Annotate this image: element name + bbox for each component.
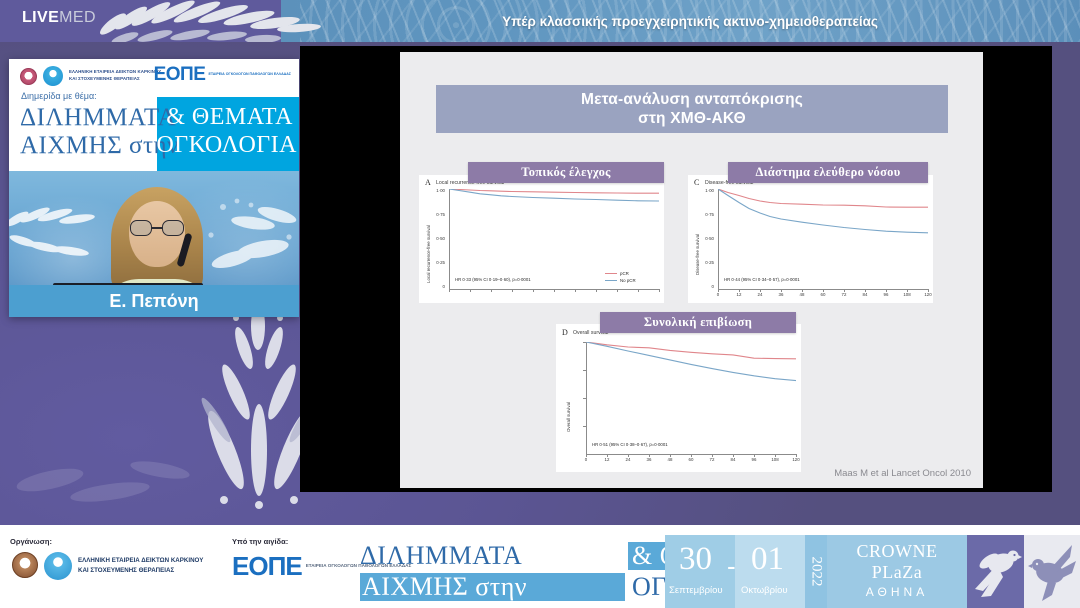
x-tick-mark-a-5 (554, 289, 555, 292)
seal-icon (20, 68, 37, 85)
organiser-name-line-2: ΚΑΙ ΣΤΟΧΕΥΜΕΝΗΣ ΘΕΡΑΠΕΙΑΣ (78, 567, 174, 574)
x-tick-d-7: 84 (727, 457, 739, 462)
app-root: LIVEMED Υπέρ κλασσικής προεγχειρητικής α… (0, 0, 1080, 608)
y-tick-a-2: 0·50 (431, 236, 445, 241)
poster-title-left-2: ΑΙΧΜΗΣ στην (20, 133, 179, 158)
chart-panel-overall-survival: D Overall survival Overall survival HR 0… (556, 324, 801, 472)
x-tick-mark-a-8 (617, 289, 618, 292)
logo-live-text: LIVE (22, 9, 59, 26)
logo-med-text: MED (59, 9, 96, 26)
poster-logos: ΕΛΛΗΝΙΚΗ ΕΤΑΙΡΕΙΑ ΔΕΙΚΤΩΝ ΚΑΡΚΙΝΟΥ ΚΑΙ Σ… (20, 66, 161, 86)
section-label-disease-free: Διάστημα ελεύθερο νόσου (728, 162, 928, 183)
km-curves-d (586, 342, 796, 454)
x-tick-d-2: 24 (622, 457, 634, 462)
eyeglasses-icon (130, 220, 184, 236)
poster-subtitle: Διημερίδα με θέμα: (21, 91, 97, 101)
date-separator: - (727, 551, 736, 582)
eope-wordmark: ΕΟΠΕ (154, 65, 206, 84)
venue-line-3: ΑΘΗΝΑ (827, 585, 967, 599)
panel-letter-a: A (425, 178, 431, 187)
footer-venue: CROWNE PLaZa ΑΘΗΝΑ (827, 535, 967, 608)
slide-citation: Maas M et al Lancet Oncol 2010 (834, 468, 971, 479)
chart-panel-disease-free: C Disease-free survival Disease-free sur… (688, 175, 933, 303)
slide-content: Μετα-ανάλυση ανταπόκρισης στη ΧΜΘ-ΑΚΘ A … (400, 52, 983, 488)
venue-line-1: CROWNE (827, 541, 967, 562)
auspices-label: Υπό την αιγίδα: (232, 537, 288, 546)
date-start-day: 30 (679, 543, 712, 576)
section-label-overall-survival: Συνολική επιβίωση (600, 312, 796, 333)
x-tick-c-2: 24 (754, 292, 766, 297)
x-tick-mark-a-7 (596, 289, 597, 292)
legend-a: pCR No pCR (605, 271, 636, 285)
bird-icon-light (969, 541, 1022, 603)
date-end-month: Οκτωβρίου (741, 585, 788, 596)
speaker-video-panel[interactable]: ΕΛΛΗΝΙΚΗ ΕΤΑΙΡΕΙΑ ΔΕΙΚΤΩΝ ΚΑΡΚΙΝΟΥ ΚΑΙ Σ… (9, 59, 299, 317)
x-tick-d-3: 36 (643, 457, 655, 462)
section-label-local-control: Τοπικός έλεγχος (468, 162, 664, 183)
panel-letter-c: C (694, 178, 699, 187)
x-tick-mark-a-9 (638, 289, 639, 292)
poster-title-right-2: ΟΓΚΟΛΟΓΙΑ (156, 133, 297, 157)
poster-society-text: ΕΛΛΗΝΙΚΗ ΕΤΑΙΡΕΙΑ ΔΕΙΚΤΩΝ ΚΑΡΚΙΝΟΥ ΚΑΙ Σ… (69, 69, 161, 82)
x-tick-d-0: 0 (580, 457, 592, 462)
session-title: Υπέρ κλασσικής προεγχειρητικής ακτινο-χη… (300, 0, 1080, 42)
footer-year-text: 2022 (808, 545, 825, 599)
x-tick-c-1: 12 (733, 292, 745, 297)
y-tick-a-3: 0·25 (431, 260, 445, 265)
x-tick-d-8: 96 (748, 457, 760, 462)
date-start-month: Σεπτεμβρίου (669, 585, 723, 596)
x-tick-d-4: 48 (664, 457, 676, 462)
footer-banner: Οργάνωση: ΕΛΛΗΝΙΚΗ ΕΤΑΙΡΕΙΑ ΔΕΙΚΤΩΝ ΚΑΡΚ… (0, 525, 1080, 608)
organiser-label: Οργάνωση: (10, 537, 52, 546)
poster-title-left-1: ΔΙΛΗΜΜΑΤΑ (20, 105, 176, 130)
y-tick-c-2: 0·50 (700, 236, 714, 241)
footer-eope-wordmark: ΕΟΠΕ (232, 553, 302, 579)
footer-year: 2022 (805, 535, 827, 608)
bird-icon-dark (1026, 539, 1078, 605)
poster-title-right-1: & ΘΕΜΑΤΑ (166, 105, 293, 129)
hr-annotation-d: HR 0·51 (95% CI 0·38–0·67), p=0·0001 (592, 442, 668, 447)
legend-swatch-nopcr (605, 280, 617, 281)
x-tick-mark-a-1 (470, 289, 471, 292)
slide-title-line-1: Μετα-ανάλυση ανταπόκρισης (581, 90, 803, 109)
x-tick-c-4: 48 (796, 292, 808, 297)
organiser-globe-icon (44, 552, 72, 580)
panel-letter-d: D (562, 328, 568, 337)
y-axis-label-a: Local recurrence-free survival (426, 225, 431, 283)
y-tick-c-1: 0·75 (700, 212, 714, 217)
speaker-name-bar: Ε. Πεπόνη (9, 285, 299, 317)
globe-icon (43, 66, 63, 86)
y-tick-a-1: 0·75 (431, 212, 445, 217)
x-tick-d-5: 60 (685, 457, 697, 462)
slide-canvas[interactable]: Μετα-ανάλυση ανταπόκρισης στη ΧΜΘ-ΑΚΘ A … (400, 52, 983, 488)
organiser-name-line-1: ΕΛΛΗΝΙΚΗ ΕΤΑΙΡΕΙΑ ΔΕΙΚΤΩΝ ΚΑΡΚΙΝΟΥ (78, 557, 203, 564)
livemed-logo: LIVEMED (22, 9, 96, 27)
x-tick-d-1: 12 (601, 457, 613, 462)
organiser-name: ΕΛΛΗΝΙΚΗ ΕΤΑΙΡΕΙΑ ΔΕΙΚΤΩΝ ΚΑΡΚΙΝΟΥ ΚΑΙ Σ… (78, 556, 203, 575)
footer-bird-panel-left (967, 535, 1024, 608)
x-tick-mark-a-6 (575, 289, 576, 292)
footer-bird-panel-right (1024, 535, 1080, 608)
y-tick-a-0: 1·00 (431, 188, 445, 193)
conference-poster: ΕΛΛΗΝΙΚΗ ΕΤΑΙΡΕΙΑ ΔΕΙΚΤΩΝ ΚΑΡΚΙΝΟΥ ΚΑΙ Σ… (9, 59, 299, 171)
x-tick-d-6: 72 (706, 457, 718, 462)
x-tick-mark-a-10 (659, 289, 660, 292)
legend-label-pcr: pCR (620, 271, 629, 276)
x-tick-c-7: 84 (859, 292, 871, 297)
x-tick-c-10: 120 (922, 292, 933, 297)
organiser-seal-icon (12, 552, 38, 578)
footer-wordmark-line-1: ΔΙΛΗΜΜΑΤΑ (360, 542, 625, 570)
y-tick-a-4: 0 (431, 284, 445, 289)
x-tick-mark-a-3 (512, 289, 513, 292)
x-tick-c-9: 108 (901, 292, 913, 297)
legend-label-nopcr: No pCR (620, 278, 636, 283)
society-line-2: ΚΑΙ ΣΤΟΧΕΥΜΕΝΗΣ ΘΕΡΑΠΕΙΑΣ (69, 76, 140, 81)
x-tick-mark-a-4 (533, 289, 534, 292)
poster-eope-logo: ΕΟΠΕ ΕΤΑΙΡΕΙΑ ΟΓΚΟΛΟΓΩΝ ΠΑΘΟΛΟΓΩΝ ΕΛΛΑΔΑ… (154, 65, 291, 84)
km-curves-c (718, 189, 928, 289)
eope-subtext: ΕΤΑΙΡΕΙΑ ΟΓΚΟΛΟΓΩΝ ΠΑΘΟΛΟΓΩΝ ΕΛΛΑΔΑΣ (208, 72, 291, 77)
hr-annotation-a: HR 0·33 (95% CI 0·19–0·60), p=0·0001 (455, 277, 531, 282)
x-tick-c-0: 0 (712, 292, 724, 297)
venue-line-2: PLaZa (827, 562, 967, 583)
y-tick-c-3: 0·25 (700, 260, 714, 265)
society-line-1: ΕΛΛΗΝΙΚΗ ΕΤΑΙΡΕΙΑ ΔΕΙΚΤΩΝ ΚΑΡΚΙΝΟΥ (69, 69, 161, 74)
top-bar: LIVEMED Υπέρ κλασσικής προεγχειρητικής α… (0, 0, 1080, 42)
footer-wordmark-line-2: ΑΙΧΜΗΣ στην (360, 573, 625, 601)
x-tick-d-9: 108 (769, 457, 781, 462)
y-axis-label-d: Overall survival (566, 402, 571, 432)
backdrop-fern-left-icon (9, 199, 113, 277)
footer-left: Οργάνωση: ΕΛΛΗΝΙΚΗ ΕΤΑΙΡΕΙΑ ΔΕΙΚΤΩΝ ΚΑΡΚ… (0, 525, 665, 608)
hr-annotation-c: HR 0·44 (95% CI 0·34–0·57), p=0·0001 (724, 277, 800, 282)
slide-title: Μετα-ανάλυση ανταπόκρισης στη ΧΜΘ-ΑΚΘ (436, 85, 948, 133)
slide-title-line-2: στη ΧΜΘ-ΑΚΘ (638, 109, 746, 128)
y-tick-c-0: 1·00 (700, 188, 714, 193)
x-tick-mark-a-2 (491, 289, 492, 292)
x-tick-c-6: 72 (838, 292, 850, 297)
x-tick-c-5: 60 (817, 292, 829, 297)
footer-dates: 30 Σεπτεμβρίου - 01 Οκτωβρίου (665, 535, 805, 608)
x-tick-mark-a-0 (449, 289, 450, 292)
date-end-day: 01 (751, 543, 784, 576)
fern-decoration-icon (95, 0, 325, 42)
chart-panel-local-recurrence: A Local recurrence-free survival Local r… (419, 175, 664, 303)
y-tick-c-4: 0 (700, 284, 714, 289)
x-tick-c-3: 36 (775, 292, 787, 297)
x-tick-d-10: 120 (790, 457, 801, 462)
legend-swatch-pcr (605, 273, 617, 274)
x-tick-c-8: 96 (880, 292, 892, 297)
